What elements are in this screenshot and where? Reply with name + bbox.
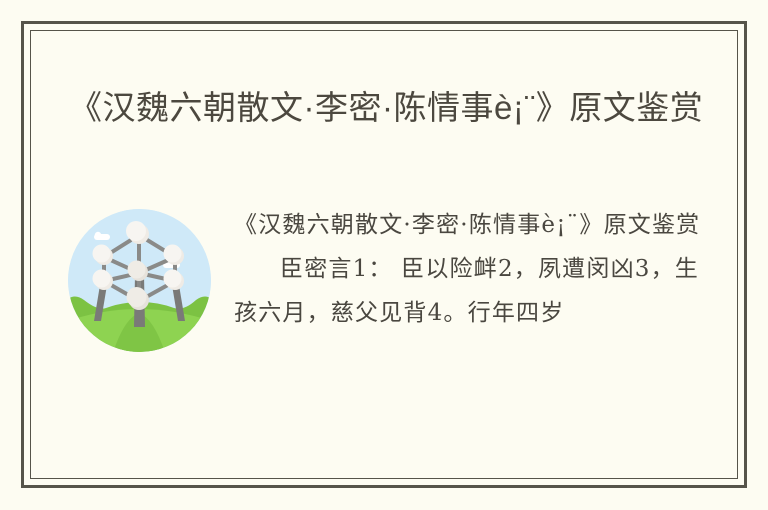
article-text: 《汉魏六朝散文·李密·陈情事è¡¨》原文鉴赏 臣密言1： 臣以险衅2，夙遭闵凶3… — [234, 203, 704, 335]
article-heading-line: 《汉魏六朝散文·李密·陈情事è¡¨》原文鉴赏 — [234, 203, 704, 247]
article-body-paragraph: 臣密言1： 臣以险衅2，夙遭闵凶3，生孩六月，慈父见背4。行年四岁 — [234, 247, 704, 335]
page-title: 《汉魏六朝散文·李密·陈情事è¡¨》原文鉴赏 — [69, 81, 709, 134]
page-content: 《汉魏六朝散文·李密·陈情事è¡¨》原文鉴赏 — [31, 31, 737, 478]
atomium-illustration-svg — [68, 209, 211, 352]
atomium-monument-illustration-icon[interactable] — [68, 209, 211, 352]
